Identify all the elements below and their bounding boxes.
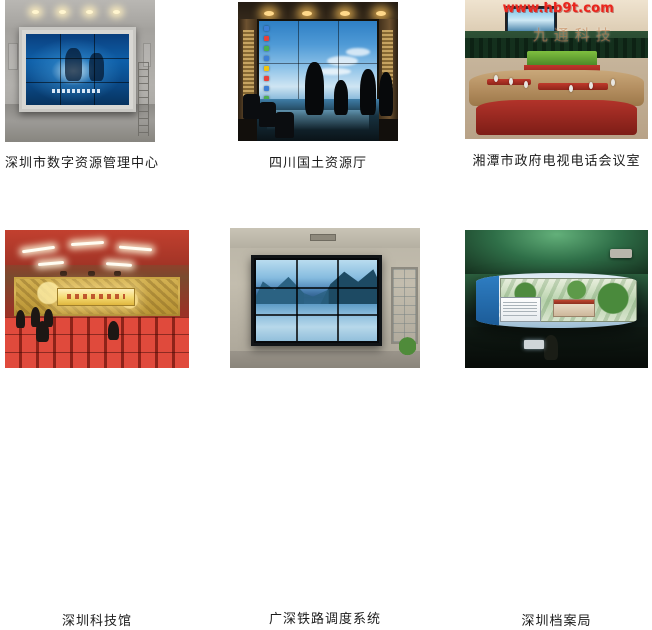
laptop bbox=[524, 340, 544, 348]
gallery-item-3-caption: 湘潭市政府电视电话会议室 bbox=[465, 154, 648, 170]
operator bbox=[544, 335, 559, 360]
water-reflection bbox=[256, 304, 377, 341]
microphone-icon bbox=[524, 81, 528, 88]
video-wall-bezel bbox=[19, 27, 136, 113]
spotlight-icon bbox=[113, 10, 120, 14]
microphone-icon bbox=[509, 78, 513, 85]
gallery-item-1-caption: 深圳市数字资源管理中心 bbox=[5, 156, 155, 172]
gallery-item-2-caption: 四川国土资源厅 bbox=[238, 156, 398, 172]
seat-row bbox=[5, 352, 189, 368]
gallery-item-6[interactable]: 深圳档案局 bbox=[465, 230, 648, 375]
person-silhouette bbox=[360, 69, 376, 115]
floor bbox=[230, 351, 420, 368]
air-vent bbox=[310, 234, 337, 242]
gallery-item-4-caption: 深圳科技馆 bbox=[5, 614, 189, 630]
person-silhouette bbox=[305, 62, 324, 115]
desktop-icons bbox=[264, 26, 283, 96]
case-4-photo[interactable] bbox=[5, 230, 189, 368]
case-1-photo[interactable] bbox=[5, 0, 155, 142]
case-2-photo[interactable] bbox=[238, 2, 398, 141]
downlight-icon bbox=[376, 11, 386, 16]
chair bbox=[243, 94, 261, 119]
application-window bbox=[500, 297, 541, 322]
case-5-photo[interactable] bbox=[230, 228, 420, 368]
spotlight-icon bbox=[59, 10, 66, 14]
person-silhouette bbox=[334, 80, 348, 115]
ceiling-light bbox=[106, 262, 132, 267]
map-building bbox=[553, 299, 596, 317]
person bbox=[16, 310, 25, 328]
gallery-item-2[interactable]: 四川国土资源厅 bbox=[238, 2, 398, 147]
window bbox=[391, 267, 418, 344]
company-watermark: 九通科技 bbox=[505, 24, 644, 45]
screen-overlay-text bbox=[52, 89, 101, 93]
spotlight-icon bbox=[86, 10, 93, 14]
curved-projection-screen bbox=[476, 273, 637, 328]
conference-desk-front bbox=[476, 100, 637, 135]
banner-text bbox=[67, 294, 125, 298]
ceiling bbox=[5, 230, 189, 265]
gallery-item-5[interactable]: 广深铁路调度系统 bbox=[230, 228, 420, 373]
desktop-sidebar bbox=[476, 273, 499, 328]
wall-panel bbox=[8, 43, 18, 71]
video-wall-content bbox=[256, 260, 377, 341]
plant bbox=[399, 337, 416, 359]
person-silhouette bbox=[379, 72, 393, 116]
person bbox=[108, 321, 119, 340]
person bbox=[36, 321, 49, 342]
image-gallery: 深圳市数字资源管理中心 bbox=[0, 0, 652, 408]
video-wall-screen bbox=[26, 34, 129, 106]
downlight-icon bbox=[264, 11, 274, 16]
gallery-item-4[interactable]: 深圳科技馆 bbox=[5, 230, 189, 375]
gallery-item-1[interactable]: 深圳市数字资源管理中心 bbox=[5, 0, 155, 145]
led-banner-display bbox=[57, 288, 135, 306]
projector bbox=[610, 249, 632, 257]
case-3-photo[interactable]: www.hb9t.com 九通科技 bbox=[465, 0, 648, 139]
video-wall-3x3 bbox=[251, 255, 382, 346]
spotlight-icon bbox=[88, 271, 95, 276]
blinds-left bbox=[243, 30, 254, 102]
case-6-photo[interactable] bbox=[465, 230, 648, 368]
chair bbox=[259, 102, 277, 127]
site-watermark: www.hb9t.com bbox=[470, 1, 646, 16]
downlight-icon bbox=[302, 11, 312, 16]
ladder bbox=[138, 62, 149, 136]
gallery-item-6-caption: 深圳档案局 bbox=[465, 614, 648, 630]
chair bbox=[275, 112, 294, 138]
gallery-item-3[interactable]: www.hb9t.com 九通科技 湘潭市政府电视电话会议室 bbox=[465, 0, 648, 145]
spotlight-icon bbox=[60, 271, 67, 276]
gallery-item-5-caption: 广深铁路调度系统 bbox=[230, 612, 420, 628]
spotlight-icon bbox=[32, 10, 39, 14]
ceiling bbox=[5, 0, 155, 28]
spotlight-icon bbox=[114, 271, 121, 276]
